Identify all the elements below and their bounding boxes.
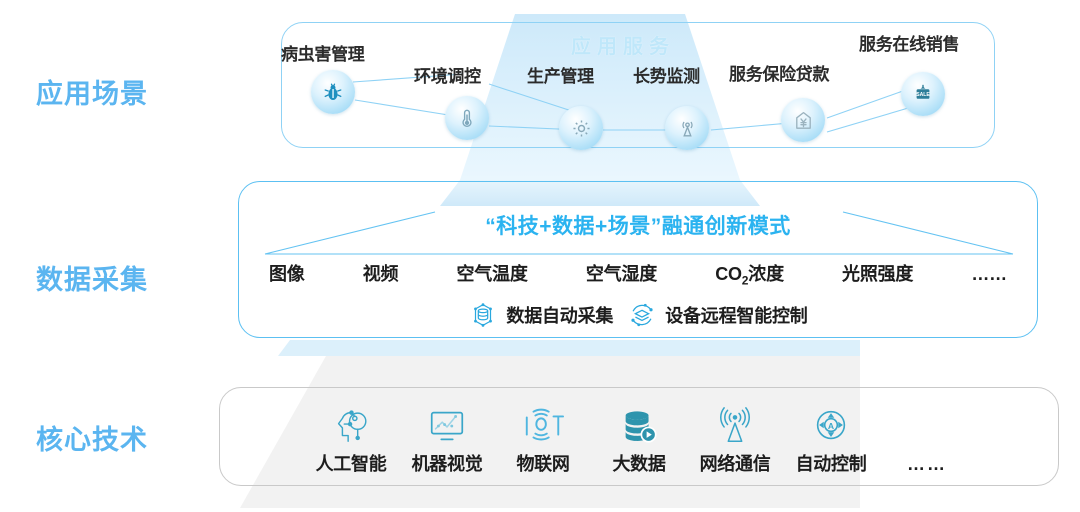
technology-label-1: 机器视觉: [412, 450, 483, 476]
technology-item-auto-control[interactable]: A 自动控制: [783, 401, 879, 476]
scenario-bubble-bug[interactable]: [311, 70, 355, 114]
database-network-icon: [468, 300, 498, 330]
technology-label-2: 物联网: [516, 450, 569, 476]
scenario-bubble-online-sales[interactable]: SALE: [901, 72, 945, 116]
sensor-item-ellipsis: ……: [971, 264, 1007, 285]
technology-label-3: 大数据: [612, 450, 665, 476]
technology-item-ai[interactable]: 人工智能: [303, 401, 399, 476]
scenario-bubble-monitoring[interactable]: [665, 106, 709, 150]
sale-tag-icon: SALE: [911, 82, 935, 106]
scenario-label-3: 长势监测: [633, 62, 700, 87]
funnel-lower-blue-cap: [278, 340, 860, 356]
database-play-icon: [618, 405, 660, 447]
thermometer-icon: [456, 107, 478, 129]
layers-sync-icon: [627, 300, 657, 330]
row-label-application: 应用场景: [36, 72, 148, 111]
signal-tower-icon: [676, 117, 699, 140]
technology-item-big-data[interactable]: 大数据: [591, 401, 687, 476]
antenna-waves-icon: [713, 405, 757, 447]
sensor-item-1: 视频: [363, 260, 399, 286]
technology-item-machine-vision[interactable]: 机器视觉: [399, 401, 495, 476]
row-label-data: 数据采集: [36, 258, 148, 297]
auto-control-icon: A: [810, 405, 852, 447]
sensor-item-2: 空气温度: [457, 260, 528, 286]
technology-item-iot[interactable]: 物联网: [495, 401, 591, 476]
scenario-label-0: 病虫害管理: [281, 40, 365, 65]
capability-list: 数据自动采集 设备远程智能控制: [239, 300, 1037, 330]
sensor-list: 图像 视频 空气温度 空气湿度 CO2浓度 光照强度 ……: [255, 260, 1021, 288]
sensor-item-4: CO2浓度: [715, 260, 784, 288]
scenario-label-5: 服务在线销售: [859, 30, 959, 55]
technology-ellipsis: ……: [879, 454, 975, 476]
capability-item-auto-collect: 数据自动采集: [468, 300, 613, 330]
technology-label-5: 自动控制: [796, 450, 867, 476]
scenario-label-4: 服务保险贷款: [729, 60, 829, 85]
sensor-item-4-tail: 浓度: [748, 264, 784, 284]
capability-label-0: 数据自动采集: [506, 302, 613, 328]
scenario-bubble-gear[interactable]: [559, 106, 603, 150]
sensor-item-3: 空气湿度: [586, 260, 657, 286]
svg-text:SALE: SALE: [916, 92, 930, 98]
capability-label-1: 设备远程智能控制: [665, 302, 807, 328]
technology-label-4: 网络通信: [700, 450, 771, 476]
technology-list: 人工智能 机器视觉: [219, 387, 1059, 486]
application-service-overlay-title: 应用服务: [571, 30, 675, 59]
sensor-item-5: 光照强度: [842, 260, 913, 286]
sensor-item-0: 图像: [269, 260, 305, 286]
monitor-chart-icon: [426, 405, 468, 447]
technology-item-network[interactable]: 网络通信: [687, 401, 783, 476]
row-label-core: 核心技术: [36, 418, 148, 457]
data-panel-title: “科技+数据+场景”融通创新模式: [239, 210, 1037, 240]
scenario-bubble-insurance-loan[interactable]: [781, 98, 825, 142]
gear-icon: [570, 117, 593, 140]
scenario-items: 病虫害管理 环境调控 应用服务 生产管理: [281, 22, 995, 148]
sensor-item-4-formula: CO: [715, 264, 742, 284]
scenario-bubble-thermometer[interactable]: [445, 96, 489, 140]
house-yuan-icon: [792, 109, 815, 132]
scenario-label-2: 生产管理: [527, 62, 594, 87]
data-acquisition-panel: “科技+数据+场景”融通创新模式 图像 视频 空气温度 空气湿度 CO2浓度 光…: [238, 181, 1038, 338]
ai-head-icon: [330, 405, 372, 447]
capability-item-remote-control: 设备远程智能控制: [627, 300, 807, 330]
bug-icon: [321, 80, 345, 104]
scenario-label-1: 环境调控: [414, 62, 481, 87]
technology-label-0: 人工智能: [316, 450, 387, 476]
svg-text:A: A: [828, 421, 834, 431]
diagram-canvas: 应用场景 数据采集 核心技术: [0, 0, 1080, 512]
iot-icon: [521, 405, 565, 447]
